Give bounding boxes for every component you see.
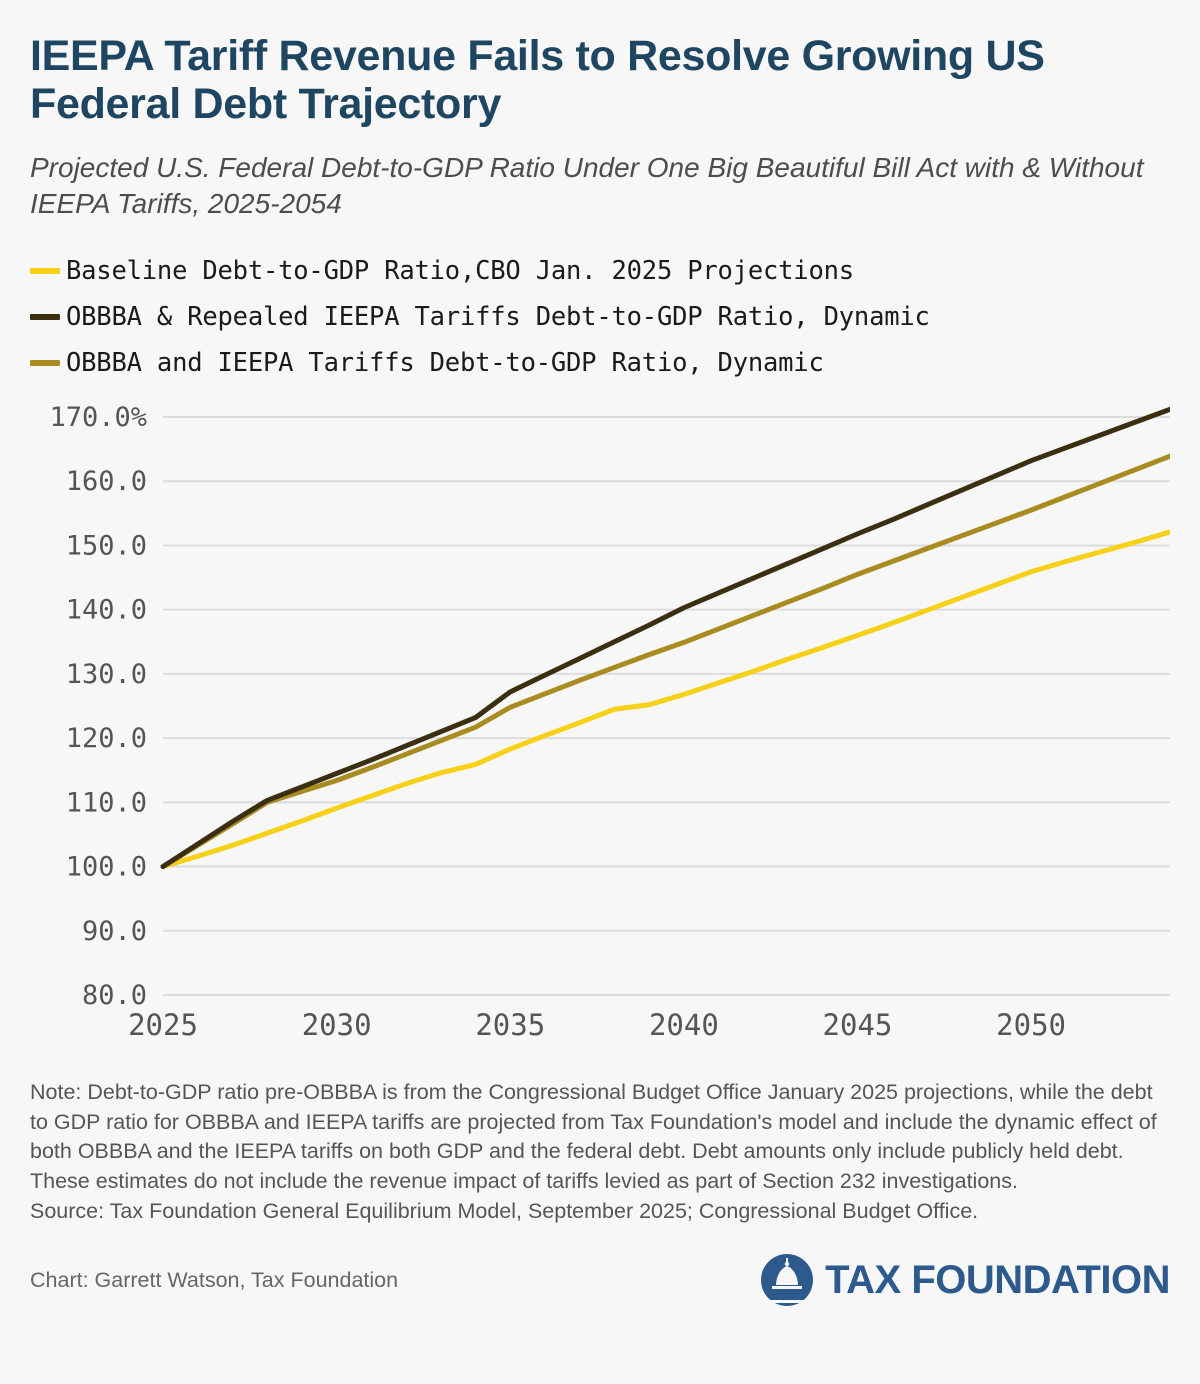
chart-y-axis-labels: 170.0%160.0150.0140.0130.0120.0110.0100.… bbox=[49, 402, 147, 1011]
x-axis-tick-label: 2045 bbox=[823, 1008, 893, 1042]
y-axis-tick-label: 150.0 bbox=[66, 530, 147, 561]
legend-item-obbba-repealed[interactable]: OBBBA & Repealed IEEPA Tariffs Debt-to-G… bbox=[30, 294, 1170, 340]
page-title: IEEPA Tariff Revenue Fails to Resolve Gr… bbox=[30, 0, 1170, 128]
chart-line-series bbox=[163, 456, 1170, 866]
legend-label-baseline: Baseline Debt-to-GDP Ratio,CBO Jan. 2025… bbox=[66, 256, 854, 286]
x-axis-tick-label: 2050 bbox=[996, 1008, 1066, 1042]
legend-label-obbba-ieepa: OBBBA and IEEPA Tariffs Debt-to-GDP Rati… bbox=[66, 348, 824, 378]
x-axis-tick-label: 2030 bbox=[302, 1008, 372, 1042]
chart-x-axis-labels: 202520302035204020452050 bbox=[128, 1008, 1066, 1042]
chart-line-series bbox=[163, 409, 1170, 866]
y-axis-tick-label: 130.0 bbox=[66, 659, 147, 690]
legend-swatch-obbba-repealed bbox=[30, 314, 60, 320]
legend-item-baseline[interactable]: Baseline Debt-to-GDP Ratio,CBO Jan. 2025… bbox=[30, 248, 1170, 294]
y-axis-tick-label: 170.0% bbox=[49, 402, 147, 433]
x-axis-tick-label: 2040 bbox=[649, 1008, 719, 1042]
chart-credit: Chart: Garrett Watson, Tax Foundation bbox=[30, 1268, 398, 1293]
tax-foundation-logo[interactable]: TAX FOUNDATION bbox=[759, 1252, 1170, 1308]
capitol-dome-icon bbox=[759, 1252, 815, 1308]
y-axis-tick-label: 110.0 bbox=[66, 787, 147, 818]
y-axis-tick-label: 140.0 bbox=[66, 595, 147, 626]
y-axis-tick-label: 160.0 bbox=[66, 466, 147, 497]
line-chart: 170.0%160.0150.0140.0130.0120.0110.0100.… bbox=[30, 400, 1170, 1060]
chart-gridlines bbox=[163, 417, 1170, 995]
chart-line-series bbox=[163, 532, 1170, 867]
chart-source: Source: Tax Foundation General Equilibri… bbox=[30, 1197, 1170, 1227]
y-axis-tick-label: 120.0 bbox=[66, 723, 147, 754]
chart-series-lines bbox=[163, 409, 1170, 866]
chart-note: Note: Debt-to-GDP ratio pre-OBBBA is fro… bbox=[30, 1078, 1170, 1197]
chart-legend: Baseline Debt-to-GDP Ratio,CBO Jan. 2025… bbox=[30, 248, 1170, 386]
chart-footer: Chart: Garrett Watson, Tax Foundation T bbox=[30, 1252, 1170, 1308]
chart-subtitle: Projected U.S. Federal Debt-to-GDP Ratio… bbox=[30, 150, 1170, 222]
x-axis-tick-label: 2025 bbox=[128, 1008, 198, 1042]
legend-swatch-baseline bbox=[30, 268, 60, 274]
legend-label-obbba-repealed: OBBBA & Repealed IEEPA Tariffs Debt-to-G… bbox=[66, 302, 930, 332]
legend-swatch-obbba-ieepa bbox=[30, 360, 60, 366]
legend-item-obbba-ieepa[interactable]: OBBBA and IEEPA Tariffs Debt-to-GDP Rati… bbox=[30, 340, 1170, 386]
y-axis-tick-label: 90.0 bbox=[82, 916, 147, 947]
chart-page: IEEPA Tariff Revenue Fails to Resolve Gr… bbox=[0, 0, 1200, 1384]
y-axis-tick-label: 80.0 bbox=[82, 980, 147, 1011]
logo-text: TAX FOUNDATION bbox=[825, 1258, 1170, 1303]
y-axis-tick-label: 100.0 bbox=[66, 852, 147, 883]
x-axis-tick-label: 2035 bbox=[475, 1008, 545, 1042]
chart-canvas: 170.0%160.0150.0140.0130.0120.0110.0100.… bbox=[30, 400, 1170, 1060]
